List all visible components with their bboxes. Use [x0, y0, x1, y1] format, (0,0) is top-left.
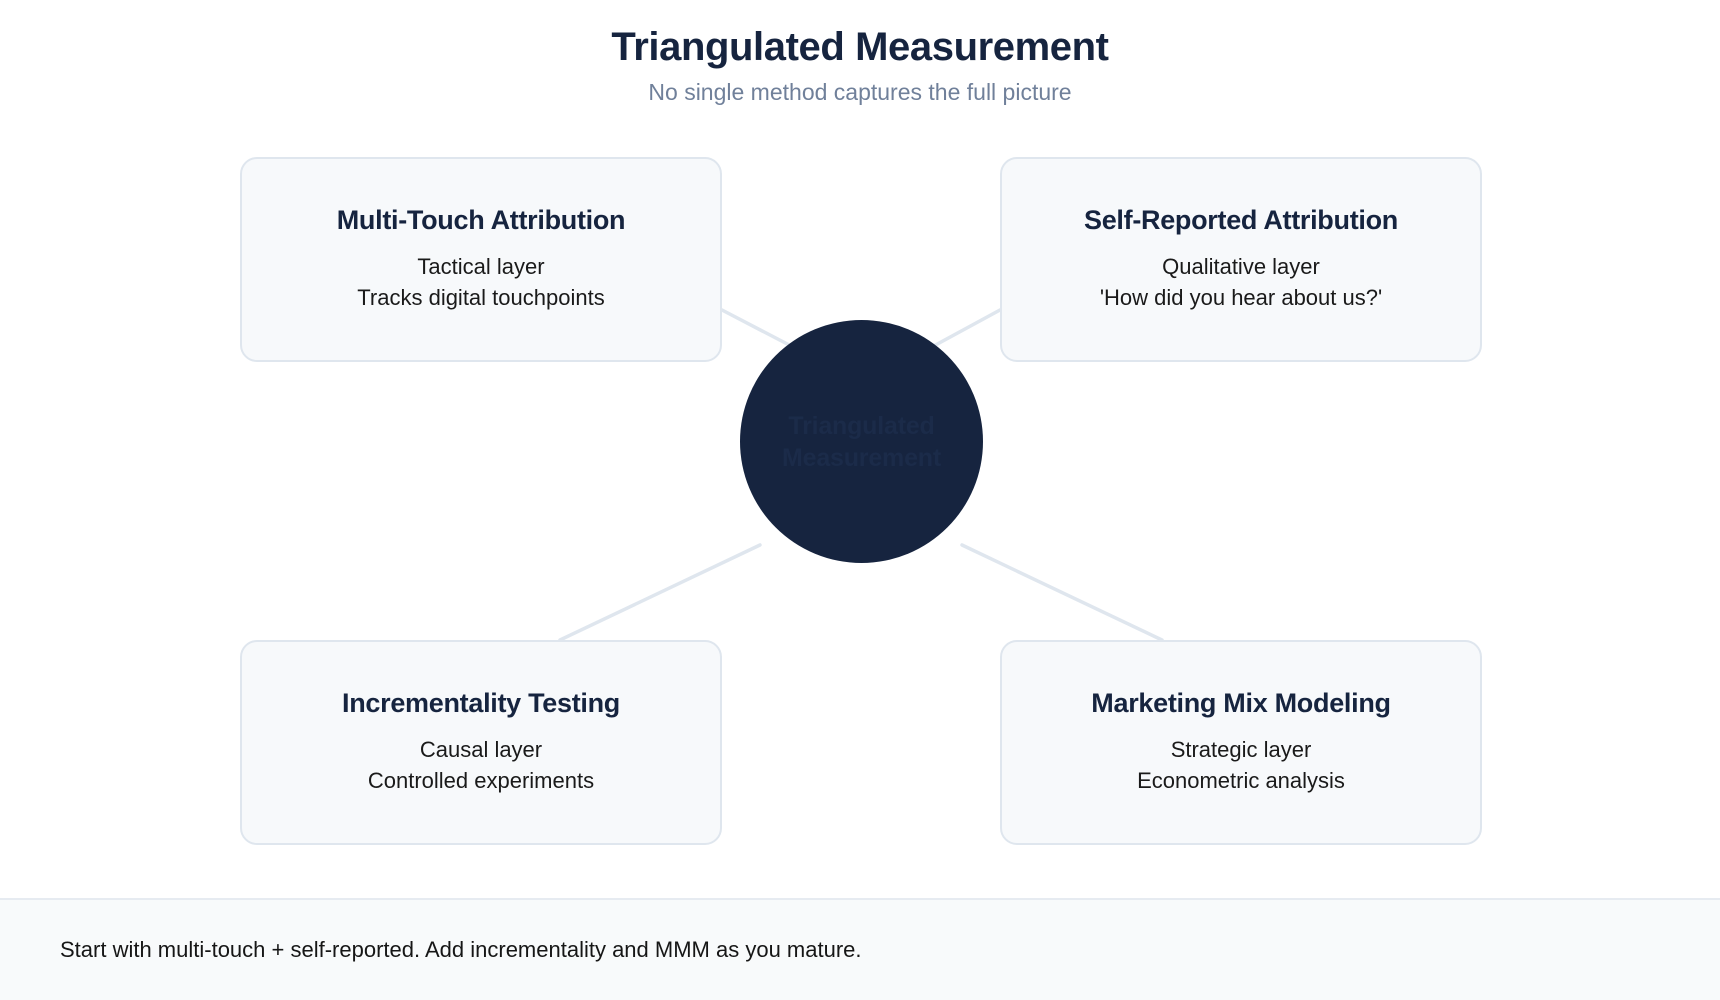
card-body: Strategic layer Econometric analysis — [1137, 734, 1345, 796]
hub-label-line1: Triangulated — [788, 410, 934, 442]
connector-sra — [930, 310, 1000, 348]
connector-mta — [722, 310, 795, 348]
page-title: Triangulated Measurement — [0, 22, 1720, 72]
card-line-1: Qualitative layer — [1100, 251, 1382, 282]
card-line-2: Controlled experiments — [368, 765, 594, 796]
card-line-2: 'How did you hear about us?' — [1100, 282, 1382, 313]
card-title: Marketing Mix Modeling — [1091, 688, 1390, 720]
hub-circle: Triangulated Measurement — [740, 320, 983, 563]
card-body: Tactical layer Tracks digital touchpoint… — [357, 251, 604, 313]
card-line-2: Tracks digital touchpoints — [357, 282, 604, 313]
card-body: Causal layer Controlled experiments — [368, 734, 594, 796]
diagram-canvas: Triangulated Measurement No single metho… — [0, 0, 1720, 1000]
card-line-1: Tactical layer — [357, 251, 604, 282]
footer-text: Start with multi-touch + self-reported. … — [60, 936, 862, 965]
connector-inc — [560, 545, 760, 640]
hub-label-line2: Measurement — [782, 442, 941, 474]
footer-bar: Start with multi-touch + self-reported. … — [0, 898, 1720, 1000]
card-multi-touch-attribution[interactable]: Multi-Touch Attribution Tactical layer T… — [240, 157, 722, 362]
connector-mmm — [962, 545, 1162, 640]
card-self-reported-attribution[interactable]: Self-Reported Attribution Qualitative la… — [1000, 157, 1482, 362]
page-subtitle: No single method captures the full pictu… — [0, 78, 1720, 108]
card-line-1: Strategic layer — [1137, 734, 1345, 765]
card-incrementality-testing[interactable]: Incrementality Testing Causal layer Cont… — [240, 640, 722, 845]
card-body: Qualitative layer 'How did you hear abou… — [1100, 251, 1382, 313]
card-line-2: Econometric analysis — [1137, 765, 1345, 796]
header: Triangulated Measurement No single metho… — [0, 22, 1720, 108]
card-title: Multi-Touch Attribution — [337, 205, 626, 237]
card-title: Incrementality Testing — [342, 688, 620, 720]
card-line-1: Causal layer — [368, 734, 594, 765]
card-title: Self-Reported Attribution — [1084, 205, 1398, 237]
card-marketing-mix-modeling[interactable]: Marketing Mix Modeling Strategic layer E… — [1000, 640, 1482, 845]
